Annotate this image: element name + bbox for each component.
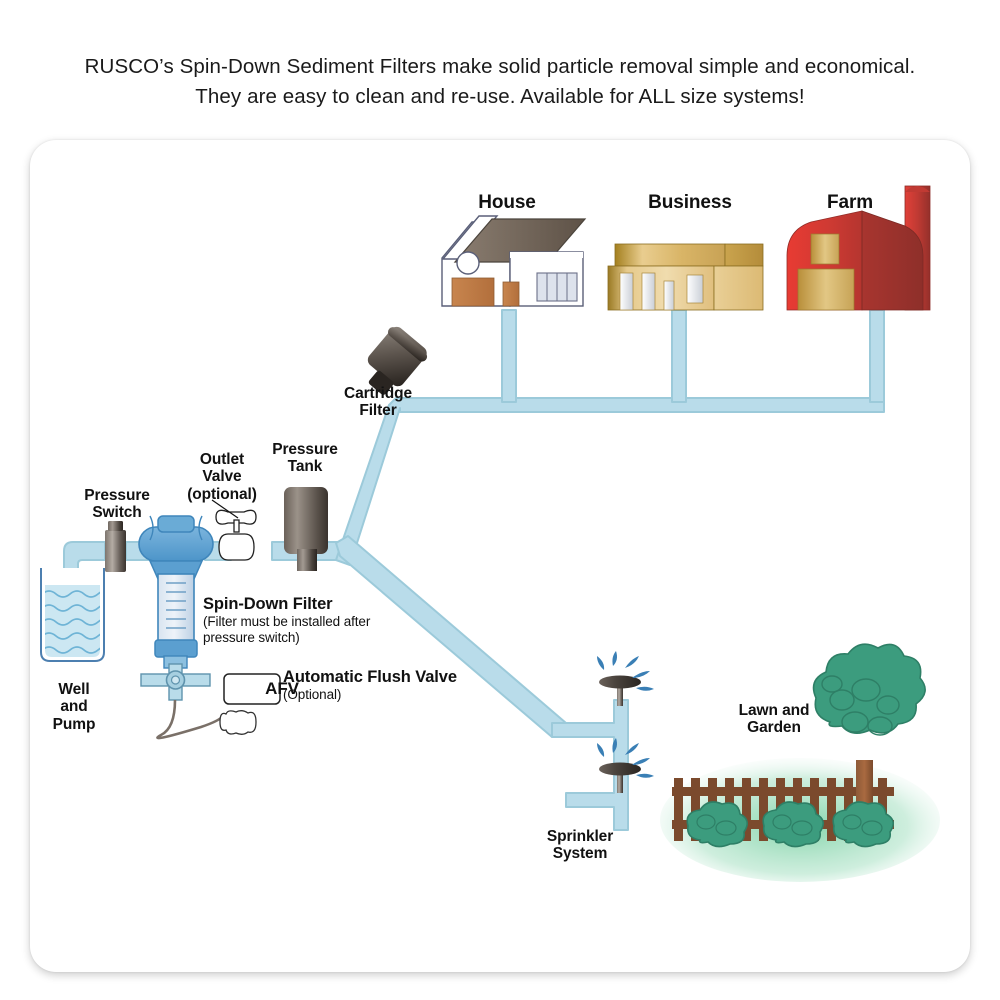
pipe-riser-business [672,310,686,402]
pressure-switch-icon [105,521,126,572]
system-diagram [30,140,970,972]
label-automatic-flush-valve: Automatic Flush Valve [283,668,563,686]
label-lawn-and-garden: Lawn and Garden [712,702,836,737]
headline-line-2: They are easy to clean and re-use. Avail… [0,82,1000,112]
page-title: RUSCO’s Spin-Down Sediment Filters make … [0,52,1000,112]
pipe-riser-farm [870,310,884,402]
office-building-icon [608,244,763,310]
well-water-icon [41,568,112,661]
label-afv-note: (Optional) [283,687,423,703]
pipe-branch-upper [336,398,884,565]
ball-valve-icon [216,510,256,560]
label-cartridge-filter: Cartridge Filter [318,385,438,420]
label-farm: Farm [790,192,910,213]
label-spin-down-filter: Spin-Down Filter [203,595,463,613]
pipe-well-to-switch [64,542,105,570]
label-spin-down-note: (Filter must be installed after pressure… [203,614,453,646]
label-house: House [432,192,582,213]
label-outlet-valve: Outlet Valve (optional) [163,451,281,503]
house-icon [442,216,585,306]
label-well-and-pump: Well and Pump [22,681,126,733]
label-business: Business [610,192,770,213]
label-pressure-switch: Pressure Switch [62,487,172,522]
label-sprinkler-system: Sprinkler System [522,828,638,863]
pipe-riser-house [502,310,516,402]
spin-down-filter-icon [139,516,213,668]
headline-line-1: RUSCO’s Spin-Down Sediment Filters make … [0,52,1000,82]
